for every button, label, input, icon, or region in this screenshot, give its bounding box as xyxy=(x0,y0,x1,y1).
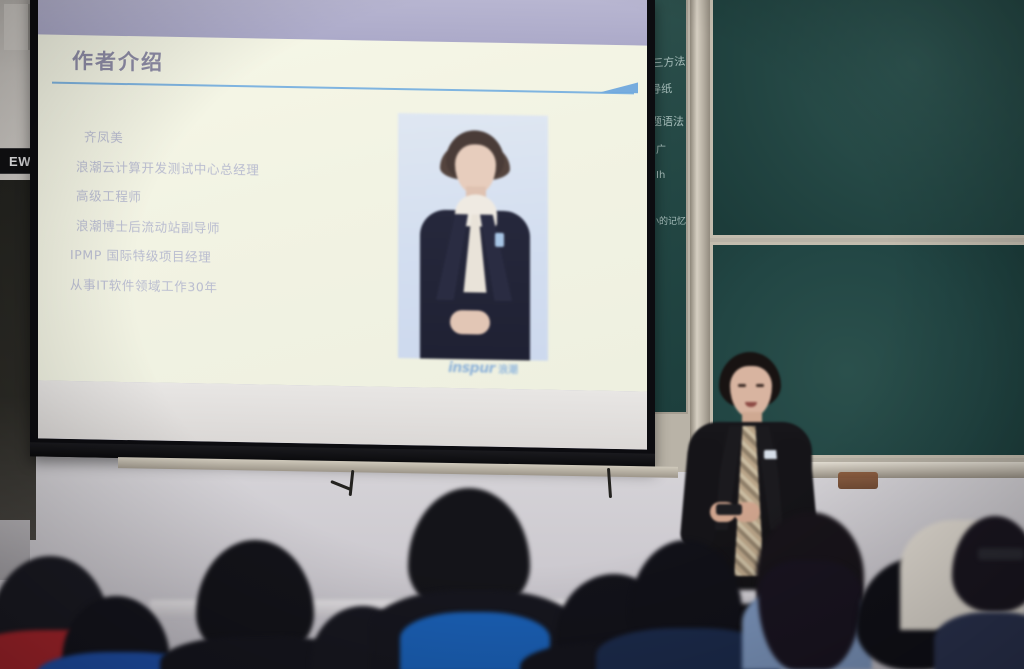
wall-fixture xyxy=(4,4,30,50)
inspur-logo: inspur浪潮 xyxy=(448,360,518,377)
slide-title: 作者介绍 xyxy=(72,45,164,77)
eyeglasses-icon xyxy=(978,548,1024,560)
presenter-eye-left xyxy=(738,384,746,387)
projection-surface: 作者介绍 齐凤美 浪潮云计算开发测试中心总经理 高级工程师 浪潮博士后流动站副导… xyxy=(38,0,647,450)
chalk-note: Ih xyxy=(656,171,665,182)
slide-bullet: 高级工程师 xyxy=(76,190,259,206)
slide-bullet: IPMP 国际特级项目经理 xyxy=(70,249,259,265)
wall-sign-ew: EW xyxy=(0,148,34,174)
slide-bullet: 浪潮博士后流动站副导师 xyxy=(76,220,259,236)
chalk-note: 广 xyxy=(656,146,666,157)
wall-sign-label: EW xyxy=(9,154,31,169)
portrait-badge xyxy=(495,233,504,247)
classroom-scene: EW 三方法 导纸 题语法 广 Ih 小的记忆 作者介绍 xyxy=(0,0,1024,669)
chalkboard-panel-upper xyxy=(710,0,1024,238)
chalk-note: 三方法 xyxy=(652,56,686,70)
slide-divider-rule xyxy=(52,82,634,95)
student-hair xyxy=(758,560,862,669)
slide-bullet-list: 齐凤美 浪潮云计算开发测试中心总经理 高级工程师 浪潮博士后流动站副导师 IPM… xyxy=(76,131,259,311)
projector-screen: 作者介绍 齐凤美 浪潮云计算开发测试中心总经理 高级工程师 浪潮博士后流动站副导… xyxy=(30,0,655,468)
inspur-logo-cn: 浪潮 xyxy=(498,365,518,376)
presentation-clicker xyxy=(716,504,742,515)
slide-bullet: 从事IT软件领域工作30年 xyxy=(70,279,259,295)
slide-bullet: 齐凤美 xyxy=(84,131,259,147)
inspur-logo-latin: inspur xyxy=(448,360,495,377)
portrait-hands xyxy=(450,310,490,335)
screen-blank-area xyxy=(38,380,647,449)
slide-bullet: 浪潮云计算开发测试中心总经理 xyxy=(76,161,259,177)
slide-portrait-photo xyxy=(398,113,548,361)
student-shoulders xyxy=(934,612,1024,669)
chalk-note: 题语法 xyxy=(651,116,684,128)
presenter-face xyxy=(730,366,772,418)
blackboard-eraser xyxy=(838,472,878,489)
presentation-slide: 作者介绍 齐凤美 浪潮云计算开发测试中心总经理 高级工程师 浪潮博士后流动站副导… xyxy=(38,34,647,391)
chalk-note: 小的记忆 xyxy=(650,218,686,227)
presenter-eye-right xyxy=(756,384,764,387)
